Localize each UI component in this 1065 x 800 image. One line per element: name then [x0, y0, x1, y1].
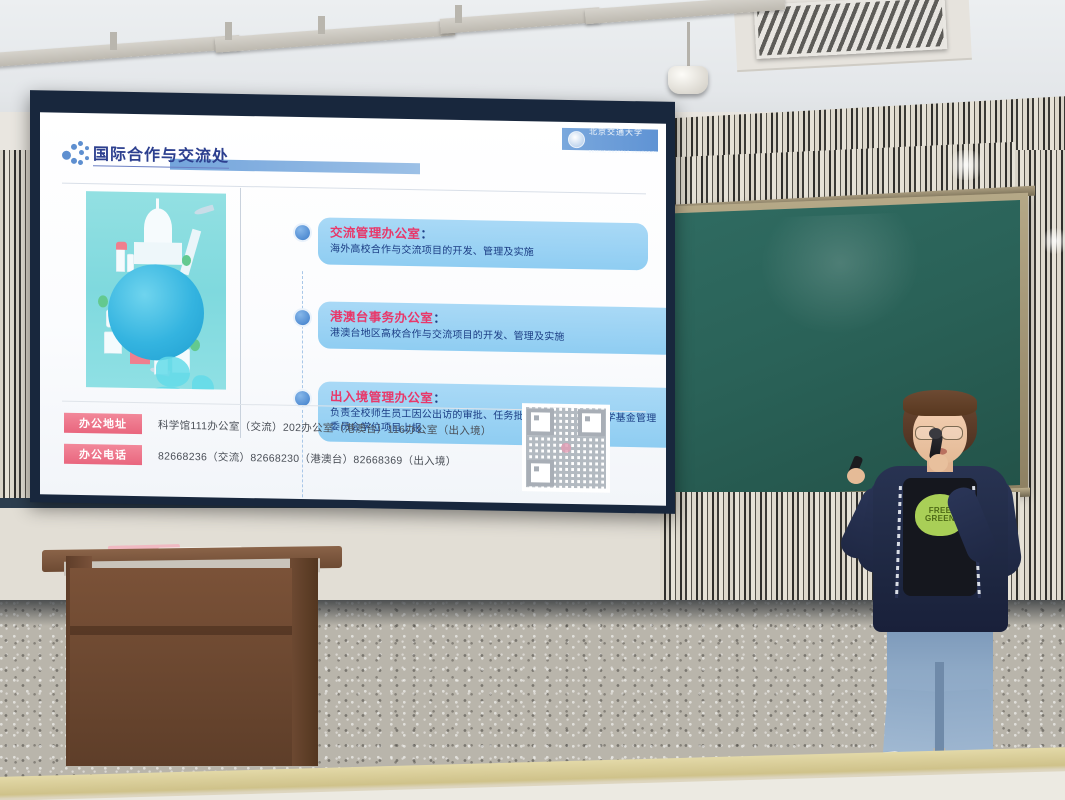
tree-icon — [98, 295, 108, 307]
globe — [108, 264, 204, 362]
timeline-dot — [295, 391, 310, 406]
contact-info-block: 办公地址 科学馆111办公室（交流）202办公室（港澳台）116办公室（出入境）… — [64, 413, 584, 485]
microphone-head — [929, 428, 942, 439]
lectern-body — [70, 568, 292, 766]
contact-phone-value: 82668236（交流）82668230（港澳台）82668369（出入境） — [158, 448, 457, 468]
qr-code-icon[interactable] — [522, 403, 610, 493]
contact-row: 办公电话 82668236（交流）82668230（港澳台）82668369（出… — [64, 444, 584, 474]
tree-icon — [182, 255, 191, 266]
list-item[interactable]: 港澳台事务办公室： 港澳台地区高校合作与交流项目的开发、管理及实施 — [318, 301, 666, 354]
wooden-lectern — [42, 548, 342, 770]
status-badge: 办公电话 — [64, 444, 142, 465]
ceiling-mount — [110, 32, 117, 50]
world-globe-landmarks-illustration — [86, 191, 226, 390]
continent — [144, 386, 188, 390]
presenter-bangs — [903, 390, 977, 416]
university-seal-icon — [568, 130, 585, 147]
presenter-right-hand — [929, 454, 948, 472]
logo-subtext: BEIJING JIAOTONG UNIVERSITY — [589, 149, 658, 154]
building — [116, 248, 125, 272]
presenter-speaking: FREE GREEN — [845, 390, 1035, 790]
ceiling-mount — [455, 5, 462, 23]
qr-center-logo — [561, 443, 571, 453]
contact-address-value: 科学馆111办公室（交流）202办公室（港澳台）116办公室（出入境） — [158, 417, 492, 438]
university-logo-banner: 北京交通大学 BEIJING JIAOTONG UNIVERSITY — [562, 128, 658, 152]
list-item[interactable]: 交流管理办公室： 海外高校合作与交流项目的开发、管理及实施 — [318, 217, 648, 270]
page-title: 国际合作与交流处 — [93, 140, 229, 168]
airplane-icon — [194, 204, 215, 216]
red-roof-building — [116, 242, 127, 250]
ceiling-mount — [318, 16, 325, 34]
eyeglasses — [941, 426, 963, 440]
presenter-left-hand — [847, 468, 865, 484]
capitol-base — [134, 242, 182, 265]
logo-text: 北京交通大学 — [589, 127, 643, 137]
status-badge: 办公地址 — [64, 413, 142, 434]
wall-highlight — [945, 150, 987, 180]
wall-highlight — [1040, 228, 1065, 254]
timeline-dot — [295, 310, 310, 325]
item-body: 海外高校合作与交流项目的开发、管理及实施 — [330, 243, 636, 262]
ceiling-hung-projector — [668, 66, 708, 94]
jeans-inseam — [935, 662, 944, 754]
ceiling-mount — [225, 22, 232, 40]
lectern-side-panel — [290, 558, 318, 766]
network-nodes-icon — [62, 141, 92, 172]
timeline-dot — [295, 225, 310, 240]
presentation-slide[interactable]: 北京交通大学 BEIJING JIAOTONG UNIVERSITY 国际合作与… — [40, 112, 666, 505]
qr-eye — [527, 408, 554, 435]
classroom-presentation-scene: 北京交通大学 BEIJING JIAOTONG UNIVERSITY 国际合作与… — [0, 0, 1065, 800]
continent — [192, 375, 214, 390]
lectern-trim — [70, 626, 292, 635]
tower-building — [180, 229, 201, 276]
qr-eye — [527, 459, 554, 486]
qr-eye — [578, 409, 605, 436]
